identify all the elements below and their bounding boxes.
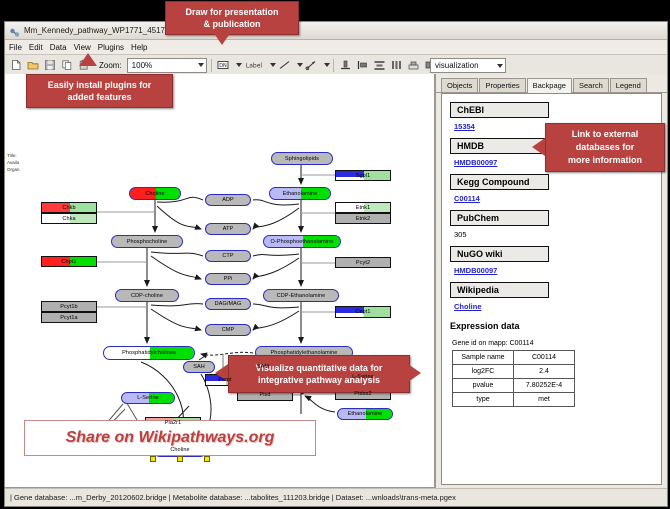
size-icon[interactable] [389,58,404,73]
cell-key: log2FC [453,365,514,379]
node-label: Sphingolipids [285,156,319,162]
node-sphingolipids[interactable]: Sphingolipids [271,152,333,165]
table-row: type met [453,393,575,407]
gene-label: Etnk1 [356,205,371,211]
screenshot-root: Mm_Kennedy_pathway_WP1771_45176.gpml Fil… [0,0,670,509]
gene-label: Sgpl1 [356,173,371,179]
node-ppi[interactable]: PPi [205,273,251,285]
gene-label: Pcyt2 [356,260,370,266]
db-header-wikipedia: Wikipedia [450,282,549,298]
node-dag-mag[interactable]: DAG/MAG [205,298,251,310]
cell-value: 2.4 [514,365,575,379]
callout-plugins-text: Easily install plugins foradded features [48,79,152,103]
cell-value: C00114 [514,351,575,365]
open-icon[interactable] [25,58,40,73]
gene-chkb[interactable]: Chkb [41,202,97,213]
datanode-icon[interactable]: DN [216,58,231,73]
gene-label: Pisd [259,392,270,398]
gene-label: Pcyt1a [60,315,77,321]
node-cdp-ethanolamine[interactable]: CDP-Ethanolamine [263,289,339,302]
node-label: CDP-choline [131,293,163,299]
gene-label: Chpt1 [61,259,76,265]
chevron-down-icon[interactable] [198,63,204,67]
svg-text:DN: DN [219,63,227,69]
status-bar: | Gene database: ...m_Derby_20120602.bri… [5,488,667,506]
node-ethanolamine-bottom[interactable]: Ethanolamine [337,408,393,420]
zoom-combo[interactable]: 100% [127,58,207,73]
cell-key: Sample name [453,351,514,365]
datanode-dropdown-icon[interactable] [233,59,241,72]
node-label: Choline [170,447,189,453]
menu-item-edit[interactable]: Edit [29,43,43,52]
expression-data-title: Expression data [450,321,661,331]
node-label: PPi [224,276,233,282]
node-choline-top[interactable]: Choline [129,187,181,200]
svg-text:Label: Label [246,63,263,70]
share-banner-text: Share on Wikipathways.org [66,429,275,447]
title-bar: Mm_Kennedy_pathway_WP1771_45176.gpml [5,22,667,40]
menu-item-file[interactable]: File [9,43,22,52]
label-dropdown-icon[interactable] [267,59,275,72]
selection-handle-se[interactable] [204,456,210,462]
app-icon [9,25,20,36]
distribute-icon[interactable] [372,58,387,73]
status-text: | Gene database: ...m_Derby_20120602.bri… [10,493,456,502]
node-atp[interactable]: ATP [205,223,251,235]
gene-chka[interactable]: Chka [41,213,97,224]
copy-icon[interactable] [59,58,74,73]
gene-label: Ptdss2 [354,391,371,397]
gene-label: Etnk2 [356,216,371,222]
menu-item-view[interactable]: View [74,43,91,52]
selection-handle-s[interactable] [177,456,183,462]
callout-links-arrow [532,138,545,156]
label-icon[interactable]: Label [243,58,265,73]
tab-backpage[interactable]: Backpage [527,78,572,93]
tab-properties[interactable]: Properties [479,78,525,92]
db-link-kegg[interactable]: C00114 [454,194,661,203]
node-label: Phosphatidylcholines [122,350,176,356]
menu-item-plugins[interactable]: Plugins [98,43,124,52]
save-icon[interactable] [42,58,57,73]
db-header-kegg: Kegg Compound [450,174,549,190]
db-header-pubchem: PubChem [450,210,549,226]
node-label: SAH [193,364,205,370]
visualization-combo[interactable]: visualization [430,58,506,73]
node-label: Phosphatidylethanolamine [271,350,338,356]
menu-item-help[interactable]: Help [131,43,147,52]
cell-value: met [514,393,575,407]
table-row: pvalue 7.80252E-4 [453,379,575,393]
visualization-value: visualization [433,61,479,70]
gene-chpt1[interactable]: Chpt1 [41,256,97,267]
node-l-serine-left[interactable]: L-Serine [121,392,175,404]
toolbar-separator-2 [333,59,334,72]
node-ctp[interactable]: CTP [205,250,251,262]
gene-cept1[interactable]: Cept1 [335,306,391,318]
db-header-chebi: ChEBI [450,102,549,118]
new-icon[interactable] [8,58,23,73]
zoom-value: 100% [130,61,152,70]
node-label: ADP [222,197,234,203]
menu-bar[interactable]: File Edit Data View Plugins Help [5,40,667,55]
gene-label: Pla2r1 [165,420,182,426]
line-icon[interactable] [277,58,292,73]
gene-pcyt1a[interactable]: Pcyt1a [41,312,97,323]
node-phosphocholine[interactable]: Phosphocholine [111,235,183,248]
node-label: Phosphocholine [127,239,168,245]
node-label: L-Serine [137,395,159,401]
node-sah[interactable]: SAH [183,361,215,373]
toolbar-separator [211,59,212,72]
node-label: CTP [222,253,233,259]
callout-plugins: Easily install plugins foradded features [26,74,173,108]
node-phosphatidylcholines[interactable]: Phosphatidylcholines [103,346,195,360]
table-row: Sample name C00114 [453,351,575,365]
node-adp[interactable]: ADP [205,194,251,206]
callout-visualize-arrow-right [408,364,421,382]
node-label: CDP-Ethanolamine [277,293,326,299]
callout-draw-text: Draw for presentation& publication [185,6,278,30]
callout-plugins-arrow [79,53,97,66]
interaction-dropdown-icon[interactable] [321,59,329,72]
gene-pcyt2[interactable]: Pcyt2 [335,257,391,268]
cell-value: 7.80252E-4 [514,379,575,393]
selection-handle-sw[interactable] [150,456,156,462]
node-label: SAM [257,364,269,370]
line-dropdown-icon[interactable] [294,59,302,72]
node-cmp[interactable]: CMP [205,324,251,336]
gene-label: Pemt [218,377,231,383]
tab-objects[interactable]: Objects [441,78,478,92]
callout-draw: Draw for presentation& publication [165,1,299,35]
tab-legend[interactable]: Legend [610,78,647,92]
align-top-icon[interactable] [338,58,353,73]
node-label: Choline [145,191,164,197]
side-tabs[interactable]: Objects Properties Backpage Search Legen… [436,74,667,93]
callout-links: Link to externaldatabases formore inform… [545,123,665,172]
node-label: Ethanolamine [348,411,383,417]
expression-table: Sample name C00114 log2FC 2.4 pvalue 7.8… [452,350,575,407]
node-label: O-Phosphoethanolamine [271,239,334,245]
tab-search[interactable]: Search [573,78,609,92]
node-label: DAG/MAG [215,301,242,307]
gene-label: Chkb [62,205,75,211]
menu-item-data[interactable]: Data [50,43,67,52]
cell-key: type [453,393,514,407]
db-link-wikipedia[interactable]: Choline [454,302,661,311]
toolbar: Zoom: 100% DN Label [5,55,667,76]
gene-sgpl1[interactable]: Sgpl1 [335,170,391,181]
chevron-down-icon-2[interactable] [497,64,503,68]
align-left-icon[interactable] [355,58,370,73]
node-label: ATP [223,226,234,232]
callout-visualize: Visualize quantitative data forintegrati… [228,355,410,393]
stack-icon[interactable] [406,58,421,73]
gene-id-line: Gene id on mapp: C00114 [452,340,661,347]
node-label: L-Serine [352,374,374,380]
node-o-phosphoethanolamine[interactable]: O-Phosphoethanolamine [263,235,341,248]
cell-key: pvalue [453,379,514,393]
gene-label: Pcyt1b [60,304,77,310]
node-label: CMP [222,327,235,333]
gene-etnk1[interactable]: Etnk1 [335,202,391,213]
db-header-nugo: NuGO wiki [450,246,549,262]
gene-label: Chka [62,216,75,222]
callout-links-text: Link to externaldatabases formore inform… [568,128,642,167]
node-label: Ethanolamine [283,191,318,197]
db-value-pubchem: 305 [454,230,661,239]
node-cdp-choline[interactable]: CDP-choline [115,289,179,302]
zoom-label: Zoom: [99,61,122,70]
node-ethanolamine[interactable]: Ethanolamine [269,187,331,200]
callout-draw-arrow [213,32,231,45]
table-row: log2FC 2.4 [453,365,575,379]
gene-pcyt1b[interactable]: Pcyt1b [41,301,97,312]
gene-etnk2[interactable]: Etnk2 [335,213,391,224]
gene-label: Cept1 [355,309,370,315]
interaction-icon[interactable] [304,58,319,73]
db-link-nugo[interactable]: HMDB00097 [454,266,661,275]
